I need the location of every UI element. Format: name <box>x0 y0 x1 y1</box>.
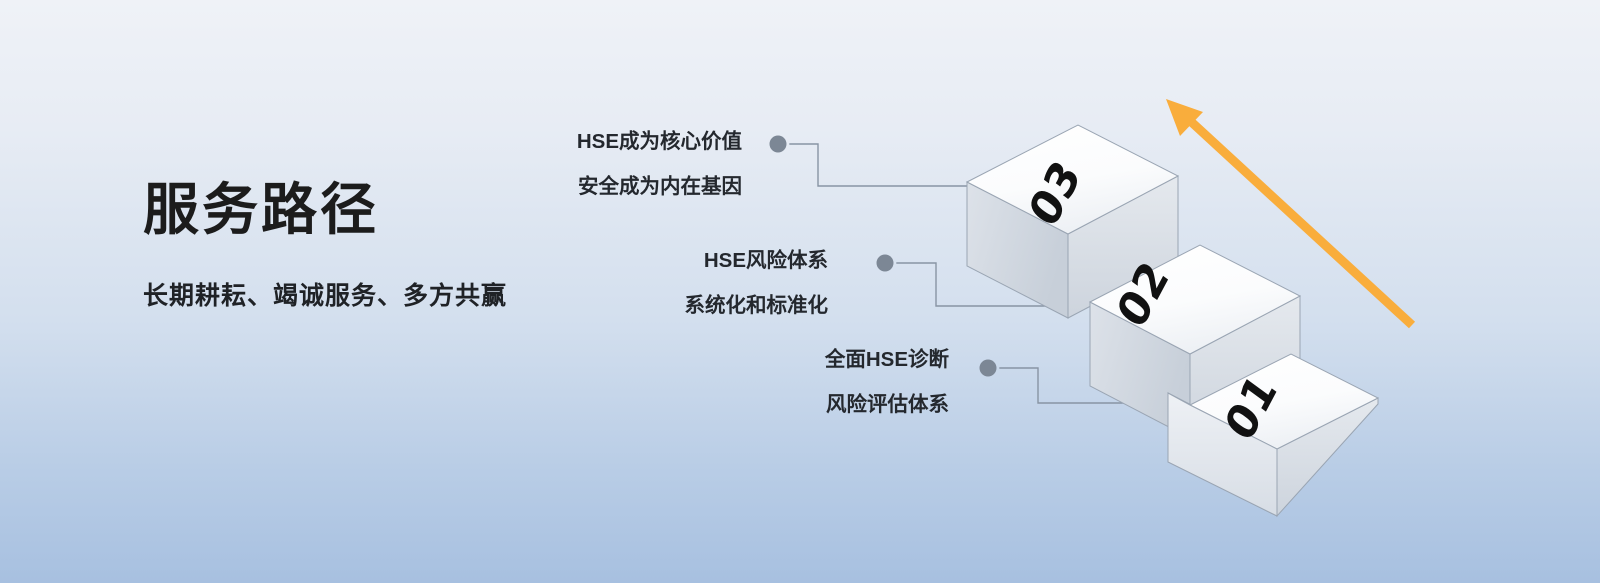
connector-dot-step-02 <box>877 255 894 272</box>
connector-dot-step-01 <box>980 360 997 377</box>
slide-canvas: 服务路径 长期耕耘、竭诚服务、多方共赢 HSE成为核心价值 安全成为内在基因 H… <box>0 0 1600 583</box>
connector-step-03 <box>790 144 980 186</box>
connector-dot-step-03 <box>770 136 787 153</box>
diagram-stage <box>0 0 1600 583</box>
connector-dots <box>770 136 997 377</box>
